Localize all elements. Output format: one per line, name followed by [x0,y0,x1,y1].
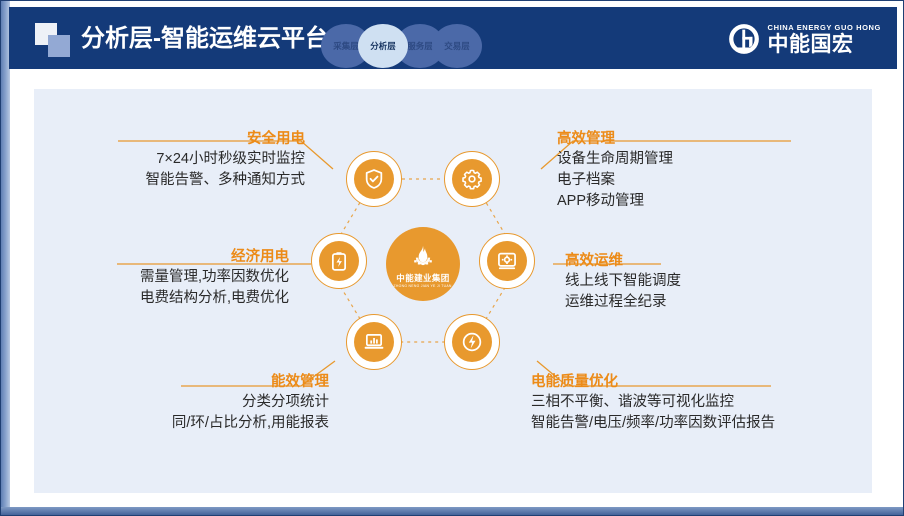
block-power-quality-title: 电能质量优化 [531,372,881,392]
node-energy-efficiency-disc [354,322,394,362]
slide-root: 分析层-智能运维云平台 采集层 分析层 服务层 交易层 [0,0,904,516]
block-efficient-management-line-2: 电子档案 [557,170,867,191]
stage-pill-analysis-label: 分析层 [370,40,396,52]
stage-pill-analysis[interactable]: 分析层 [358,24,408,68]
block-energy-efficiency-title: 能效管理 [15,372,329,392]
block-efficient-operations-title: 高效运维 [565,251,865,271]
bolt-circle-icon [461,331,483,353]
node-efficient-operations[interactable] [479,233,535,289]
stage-pill-service-label: 服务层 [407,40,433,52]
node-safe-electricity[interactable] [346,151,402,207]
brand-text: CHINA ENERGY GUO HONG 中能国宏 [768,22,881,56]
gear-icon [461,168,483,190]
stage-pill-trade-label: 交易层 [444,40,470,52]
header-bar: 分析层-智能运维云平台 采集层 分析层 服务层 交易层 [9,7,897,69]
stage-pills-group: 采集层 分析层 服务层 交易层 [321,24,481,68]
node-economic-electricity[interactable] [311,233,367,289]
block-safe-electricity: 安全用电 7×24小时秒级实时监控 智能告警、多种通知方式 [15,129,305,191]
shield-check-icon [363,168,385,190]
block-safe-electricity-title: 安全用电 [15,129,305,149]
node-efficient-management-disc [452,159,492,199]
mark-square-front [48,35,70,57]
center-group-logo: 中能建业集团 ZHONG NENG JIAN YE JI TUAN [386,227,460,301]
block-safe-electricity-line-1: 7×24小时秒级实时监控 [15,149,305,170]
block-energy-efficiency-line-2: 同/环/占比分析,用能报表 [15,413,329,434]
block-power-quality: 电能质量优化 三相不平衡、谐波等可视化监控 智能告警/电压/频率/功率因数评估报… [531,372,881,434]
block-efficient-operations: 高效运维 线上线下智能调度 运维过程全纪录 [565,251,865,313]
node-efficient-management[interactable] [444,151,500,207]
block-efficient-management: 高效管理 设备生命周期管理 电子档案 APP移动管理 [557,129,867,212]
brand-english-name: CHINA ENERGY GUO HONG [768,23,881,33]
block-power-quality-line-2: 智能告警/电压/频率/功率因数评估报告 [531,413,881,434]
circle-g-emblem-icon [727,22,761,56]
monitor-gear-icon [496,250,518,272]
block-economic-electricity: 经济用电 需量管理,功率因数优化 电费结构分析,电费优化 [15,247,289,309]
block-economic-electricity-line-1: 需量管理,功率因数优化 [15,267,289,288]
page-title: 分析层-智能运维云平台 [81,22,329,56]
two-squares-mark-icon [35,23,75,57]
slide-left-accent-strip [1,1,10,516]
node-efficient-operations-disc [487,241,527,281]
hexagon-diagram: 中能建业集团 ZHONG NENG JIAN YE JI TUAN [297,141,565,401]
node-economic-electricity-disc [319,241,359,281]
stage-pill-trade[interactable]: 交易层 [432,24,482,68]
brand-logo: CHINA ENERGY GUO HONG 中能国宏 [727,20,881,58]
battery-bolt-icon [328,250,350,272]
center-logo-pinyin: ZHONG NENG JIAN YE JI TUAN [394,284,452,289]
flame-gear-icon [408,242,438,272]
block-efficient-management-title: 高效管理 [557,129,867,149]
laptop-bar-chart-icon [363,331,385,353]
node-energy-efficiency[interactable] [346,314,402,370]
block-energy-efficiency-line-1: 分类分项统计 [15,392,329,413]
brand-chinese-name: 中能国宏 [768,33,881,56]
block-efficient-management-line-3: APP移动管理 [557,191,867,212]
block-energy-efficiency: 能效管理 分类分项统计 同/环/占比分析,用能报表 [15,372,329,434]
node-safe-electricity-disc [354,159,394,199]
block-economic-electricity-line-2: 电费结构分析,电费优化 [15,288,289,309]
block-efficient-management-line-1: 设备生命周期管理 [557,149,867,170]
node-power-quality[interactable] [444,314,500,370]
block-economic-electricity-title: 经济用电 [15,247,289,267]
block-efficient-operations-line-2: 运维过程全纪录 [565,292,865,313]
center-logo-chinese-name: 中能建业集团 [396,273,449,283]
block-power-quality-line-1: 三相不平衡、谐波等可视化监控 [531,392,881,413]
node-power-quality-disc [452,322,492,362]
stage-pill-collect-label: 采集层 [333,40,359,52]
block-safe-electricity-line-2: 智能告警、多种通知方式 [15,170,305,191]
block-efficient-operations-line-1: 线上线下智能调度 [565,271,865,292]
slide-bottom-accent-strip [1,507,904,515]
